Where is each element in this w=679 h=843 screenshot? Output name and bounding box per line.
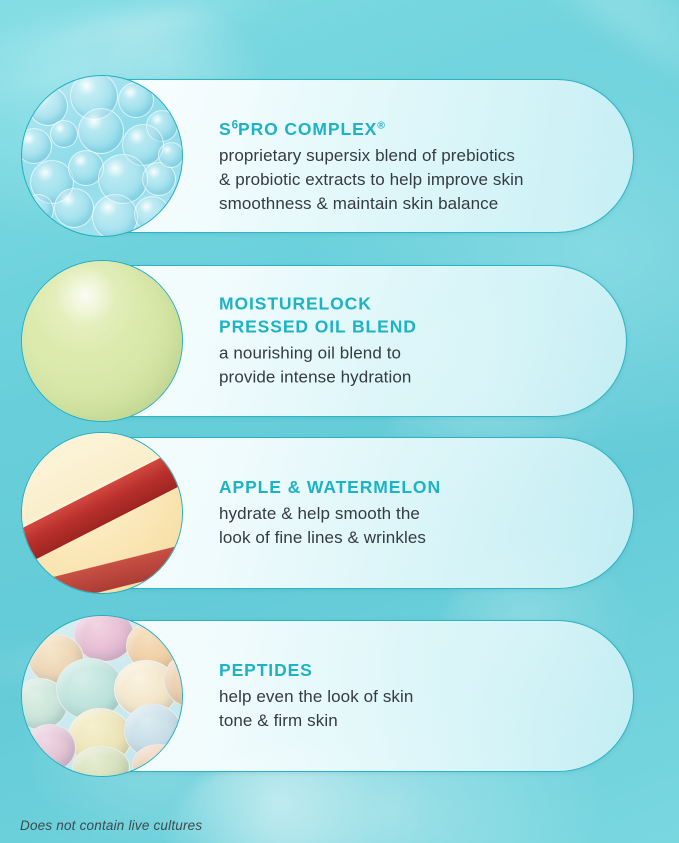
card-body: help even the look of skin tone & firm s… <box>219 685 599 733</box>
ingredient-card-s6-pro-complex: S6PRO COMPLEX® proprietary supersix blen… <box>26 79 634 233</box>
registered-trademark-icon: ® <box>377 119 385 131</box>
card-body: proprietary supersix blend of prebiotics… <box>219 144 599 216</box>
card-text-block: S6PRO COMPLEX® proprietary supersix blen… <box>219 95 599 217</box>
peptide-beads-icon <box>21 615 183 777</box>
ingredient-card-peptides: PEPTIDES help even the look of skin tone… <box>26 620 634 772</box>
card-body: a nourishing oil blend to provide intens… <box>219 341 592 389</box>
ingredient-card-apple-and-watermelon: APPLE & WATERMELON hydrate & help smooth… <box>26 437 634 589</box>
card-heading: MOISTURELOCK PRESSED OIL BLEND <box>219 292 592 338</box>
card-heading: S6PRO COMPLEX® <box>219 95 599 141</box>
apple-slice-icon <box>21 432 183 594</box>
card-body: hydrate & help smooth the look of fine l… <box>219 502 599 550</box>
card-text-block: APPLE & WATERMELON hydrate & help smooth… <box>219 476 599 550</box>
bubbles-icon <box>21 75 183 237</box>
footnote-disclaimer: Does not contain live cultures <box>20 818 202 833</box>
ingredient-card-moisturelock-pressed-oil-blend: MOISTURELOCK PRESSED OIL BLEND a nourish… <box>26 265 627 417</box>
card-text-block: MOISTURELOCK PRESSED OIL BLEND a nourish… <box>219 292 592 389</box>
ingredient-card-list: S6PRO COMPLEX® proprietary supersix blen… <box>0 0 679 843</box>
card-text-block: PEPTIDES help even the look of skin tone… <box>219 659 599 733</box>
oil-droplet-icon <box>21 260 183 422</box>
heading-prefix: S <box>219 119 232 139</box>
heading-main: PRO COMPLEX <box>238 119 377 139</box>
card-heading: APPLE & WATERMELON <box>219 476 599 499</box>
card-heading: PEPTIDES <box>219 659 599 682</box>
infographic-page: S6PRO COMPLEX® proprietary supersix blen… <box>0 0 679 843</box>
